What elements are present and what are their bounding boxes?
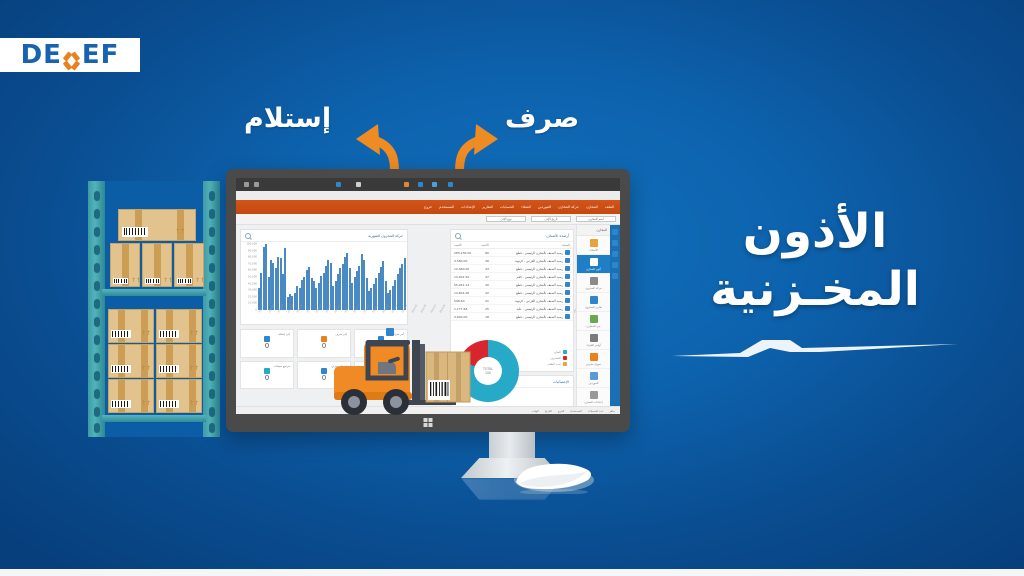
supplier-icon (590, 372, 598, 380)
legend-item: المتاح (547, 350, 567, 354)
y-tick-label: 40,000 (248, 282, 257, 285)
download-icon[interactable] (404, 182, 409, 187)
cell-qty: 40 (480, 283, 494, 287)
table-header-row: الصنف الكمية القيمة (451, 242, 573, 249)
col-header-value: القيمة (454, 243, 478, 247)
table-panel-header: أرصدة الأصناف (451, 230, 573, 242)
shield-icon[interactable] (336, 182, 341, 187)
kpi-value: 0 (265, 375, 269, 382)
cell-qty: 80 (480, 251, 494, 255)
sidebar-tile-label: تحويل مخزني (586, 362, 601, 366)
y-tick-label: 50,000 (248, 276, 257, 279)
tab-icon[interactable] (244, 182, 249, 187)
chart-title: حركة المخزون الشهرية (368, 234, 403, 238)
help-icon[interactable] (612, 273, 618, 279)
menu-item[interactable]: الحسابات (500, 205, 514, 209)
menu-item[interactable]: المستخدم (439, 205, 454, 209)
y-tick-label: 90,000 (248, 249, 257, 252)
cell-value: 1,177.68 (454, 307, 478, 311)
tab-icon[interactable] (254, 182, 259, 187)
chart-x-axis: 2023-012023-022023-032023-042023-052023-… (258, 312, 406, 320)
cell-value: 598.60 (454, 299, 478, 303)
status-item: الفرع (558, 409, 564, 413)
rack-box: ↑↑ (118, 209, 196, 241)
sidebar-tile-item[interactable]: الأصناف (577, 236, 610, 255)
cell-qty: 36 (480, 259, 494, 263)
cell-qty: 25 (480, 307, 494, 311)
cell-item: رصيد الصنف بالمخزن الرئيسي - كجم (496, 275, 563, 279)
y-tick-label: 20,000 (248, 295, 257, 298)
search-icon[interactable] (612, 240, 618, 246)
sidebar-tile-chart-bar[interactable]: أذون المخازن (577, 255, 610, 274)
bottom-strip (0, 569, 1024, 576)
bar-chart-panel: حركة المخزون الشهرية 100,00090,00080,000… (240, 229, 408, 325)
warehouse-rack: ↑↑ ↑↑ ↑↑ ↑↑ ↑↑ ↑↑ (88, 181, 220, 437)
sidebar-tile-invoice[interactable]: أوامر الشراء (577, 331, 610, 350)
forklift-with-box (316, 322, 476, 418)
legend-label: المتاح (554, 350, 561, 354)
bookmark-icon[interactable] (356, 182, 361, 187)
menu-item[interactable]: الموردين (538, 205, 551, 209)
sidebar-tile-label: إعدادات المخزن (584, 400, 602, 404)
cell-item: رصيد الصنف بالمخزن الرئيسي - قطع (496, 315, 563, 319)
menu-item[interactable]: حركة المخازن (558, 205, 579, 209)
rack-box: ↑↑ (108, 344, 154, 378)
sidebar-tile-label: الموردين (589, 381, 599, 385)
sidebar-tile-label: الأصناف (589, 248, 598, 252)
cell-value: 285,230.00 (454, 251, 478, 255)
rack-box: ↑↑ (174, 243, 204, 287)
sidebar-tile-monitor[interactable]: حركة المخزون (577, 274, 610, 293)
table-title: أرصدة الأصناف (546, 234, 569, 238)
row-doc-icon (565, 274, 570, 279)
table-row[interactable]: رصيد الصنف بالمخزن الرئيسي - قطع183,600.… (451, 313, 573, 321)
item-icon (590, 239, 598, 247)
menu-item[interactable]: الإعدادات (461, 205, 475, 209)
legend-item: تحت الطلب (547, 362, 567, 366)
y-tick-label: 70,000 (248, 262, 257, 265)
analytics-icon (590, 296, 598, 304)
row-doc-icon (565, 306, 570, 311)
brand-logo[interactable]: DEEF (0, 38, 140, 72)
table-row[interactable]: رصيد الصنف بالمخزن الرئيسي - قطع4412,460… (451, 265, 573, 273)
legend-item: المنصرف (547, 356, 567, 360)
kpi-title: إذن إضافة (278, 332, 290, 336)
cell-qty: 47 (480, 275, 494, 279)
title-line-1: الأذون (650, 203, 980, 261)
y-tick-label: 30,000 (248, 289, 257, 292)
kpi-title: مرتجع مبيعات (274, 364, 290, 368)
filter-label: تاريخ الإذن (544, 217, 557, 221)
browser-tabbar[interactable] (236, 191, 620, 200)
y-tick-label: 80,000 (248, 256, 257, 259)
cell-item: رصيد الصنف بالمخزن الفرعي - كرتونة (496, 259, 563, 263)
arrows-icon (590, 353, 598, 361)
rack-box: ↑↑ (156, 379, 202, 413)
brand-name-left: DE (21, 40, 62, 70)
home-icon[interactable] (612, 229, 618, 235)
table-row[interactable]: رصيد الصنف بالمخزن الفرعي - كرتونة21598.… (451, 297, 573, 305)
status-item: عدد السجلات (588, 409, 604, 413)
filter-input-date[interactable]: تاريخ الإذن (531, 216, 571, 222)
row-doc-icon (565, 298, 570, 303)
chart-panel-header: حركة المخزون الشهرية (241, 230, 407, 242)
row-doc-icon (565, 250, 570, 255)
filter-bar[interactable]: اسم المخزن تاريخ الإذن نوع الإذن (236, 214, 620, 225)
issue-label: صرف (505, 103, 579, 134)
legend-label: المنصرف (550, 356, 561, 360)
sidebar-tile-settings[interactable]: إعدادات المخزن (577, 388, 610, 407)
donut-title: الإحصائيات (553, 380, 569, 384)
table-row[interactable]: رصيد الصنف بالمخزن الرئيسي - قطع2214,801… (451, 289, 573, 297)
table-row[interactable]: رصيد الصنف بالمخزن الرئيسي - كجم4713,001… (451, 273, 573, 281)
apps-icon[interactable] (612, 251, 618, 257)
rack-box: ↑↑ (156, 309, 202, 343)
sidebar-tile-label: أذون المخازن (586, 267, 601, 271)
chart-bars (258, 244, 406, 310)
cell-value: 13,001.50 (454, 275, 478, 279)
status-item: الوقت (532, 409, 539, 413)
row-doc-icon (565, 282, 570, 287)
cell-item: رصيد الصنف بالمخزن الرئيسي - علبة (496, 307, 563, 311)
legend-swatch (563, 362, 567, 366)
donut-legend: المتاحالمنصرفتحت الطلب (547, 350, 567, 366)
menu-item[interactable]: المخازن (586, 205, 598, 209)
sidebar-tile-arrows[interactable]: تحويل مخزني (577, 350, 610, 369)
chart-y-axis: 100,00090,00080,00070,00060,00050,00040,… (243, 244, 257, 310)
cell-value: 12,460.00 (454, 267, 478, 271)
cell-qty: 18 (480, 315, 494, 319)
legend-label: تحت الطلب (547, 362, 561, 366)
row-doc-icon (565, 266, 570, 271)
kpi-value: 0 (265, 343, 269, 350)
donut-total-value: 100 (485, 371, 491, 375)
monitor-icon (590, 277, 598, 285)
sidebar-tile-analytics[interactable]: تقارير المخزون (577, 293, 610, 312)
computer-mouse[interactable] (512, 458, 596, 494)
poster-stage: DEEF إستلام صرف الأذون المخـزنية ↑↑ (0, 0, 1024, 576)
rack-upright-left (88, 181, 105, 437)
menu-item[interactable]: خروج (424, 205, 432, 209)
cell-item: رصيد الصنف بالمخزن الرئيسي - قطع (496, 283, 563, 287)
rack-box: ↑↑ (142, 243, 172, 287)
table-row[interactable]: رصيد الصنف بالمخزن الفرعي - كرتونة363,58… (451, 257, 573, 265)
user-icon[interactable] (432, 182, 437, 187)
return-icon (264, 368, 270, 374)
kpi-card[interactable]: إذن إضافة0 (240, 329, 294, 358)
sidebar-tile-label: أوامر الشراء (586, 343, 600, 347)
rack-box: ↑↑ (108, 379, 154, 413)
extension-icon[interactable] (448, 182, 453, 187)
sidebar-tile-supplier[interactable]: الموردين (577, 369, 610, 388)
sidebar-tile-boxes[interactable]: جرد المخازن (577, 312, 610, 331)
y-tick-label: 60,000 (248, 269, 257, 272)
browser-titlebar (236, 178, 620, 191)
invoice-icon (590, 334, 598, 342)
app-menu-bar[interactable]: الملف المخازن حركة المخازن الموردين العم… (236, 200, 620, 214)
chat-icon[interactable] (612, 262, 618, 268)
table-row[interactable]: رصيد الصنف بالمخزن الرئيسي - قطع4055,041… (451, 281, 573, 289)
rack-upright-right (203, 181, 220, 437)
donut-center-label: TOTAL 100 (457, 340, 519, 402)
title-line-2: المخـزنية (650, 261, 980, 319)
cell-item: رصيد الصنف بالمخزن الفرعي - كرتونة (496, 299, 563, 303)
cell-qty: 22 (480, 291, 494, 295)
rack-box: ↑↑ (156, 344, 202, 378)
kpi-card[interactable]: مرتجع مبيعات0 (240, 361, 294, 390)
chart-bar (404, 258, 406, 310)
chart-bar-icon (590, 258, 598, 266)
search-icon[interactable] (245, 233, 251, 239)
row-doc-icon (565, 290, 570, 295)
y-tick-label: 100,000 (246, 243, 257, 246)
rack-box: ↑↑ (108, 309, 154, 343)
sidebar-header: المخازن (577, 225, 610, 236)
cell-value: 3,580.00 (454, 259, 478, 263)
status-item: المستخدم (570, 409, 582, 413)
sidebar-title: المخازن (596, 228, 607, 232)
menu-item[interactable]: العملاء (521, 205, 531, 209)
sidebar-tile-label: تقارير المخزون (585, 305, 602, 309)
table-row[interactable]: رصيد الصنف بالمخزن الرئيسي - علبة251,177… (451, 305, 573, 313)
rack-box: ↑↑ (110, 243, 140, 287)
filter-input-type[interactable]: نوع الإذن (486, 216, 526, 222)
brand-name-right: EF (82, 40, 120, 70)
cell-value: 55,041.14 (454, 283, 478, 287)
legend-swatch (563, 356, 567, 360)
sidebar-tile-label: جرد المخازن (586, 324, 600, 328)
cell-item: رصيد الصنف بالمخزن الرئيسي - قطع (496, 251, 563, 255)
filter-input-store[interactable]: اسم المخزن (576, 216, 616, 222)
icon-rail[interactable] (610, 225, 620, 414)
search-icon[interactable] (455, 233, 461, 239)
module-sidebar[interactable]: المخازن الأصنافأذون المخازنحركة المخزونت… (576, 225, 610, 414)
legend-swatch (563, 350, 567, 354)
cell-item: رصيد الصنف بالمخزن الرئيسي - قطع (496, 267, 563, 271)
table-row[interactable]: رصيد الصنف بالمخزن الرئيسي - قطع80285,23… (451, 249, 573, 257)
cell-qty: 21 (480, 299, 494, 303)
cell-item: رصيد الصنف بالمخزن الرئيسي - قطع (496, 291, 563, 295)
col-header-qty: الكمية (478, 243, 492, 247)
row-doc-icon (565, 314, 570, 319)
brand-logo-text: DEEF (21, 42, 120, 68)
cell-qty: 44 (480, 267, 494, 271)
cell-value: 3,600.00 (454, 315, 478, 319)
menu-item[interactable]: التقارير (482, 205, 493, 209)
title-swoosh-decoration (670, 326, 960, 360)
windows-logo-icon (424, 418, 433, 427)
filter-label: اسم المخزن (588, 217, 604, 221)
menu-item[interactable]: الملف (605, 205, 614, 209)
settings-icon (590, 391, 598, 399)
filter-label: نوع الإذن (500, 217, 511, 221)
receive-label: إستلام (244, 103, 331, 134)
y-tick-label: 10,000 (248, 302, 257, 305)
status-item: التاريخ (545, 409, 552, 413)
cell-value: 14,801.00 (454, 291, 478, 295)
status-item: جاهز (609, 409, 615, 413)
boxes-icon (590, 315, 598, 323)
sidebar-tile-label: حركة المخزون (585, 286, 601, 290)
row-doc-icon (565, 258, 570, 263)
poster-title: الأذون المخـزنية (650, 203, 980, 364)
link-icon[interactable] (418, 182, 423, 187)
y-tick-label: 0 (255, 309, 257, 312)
col-header-item: الصنف (492, 243, 570, 247)
